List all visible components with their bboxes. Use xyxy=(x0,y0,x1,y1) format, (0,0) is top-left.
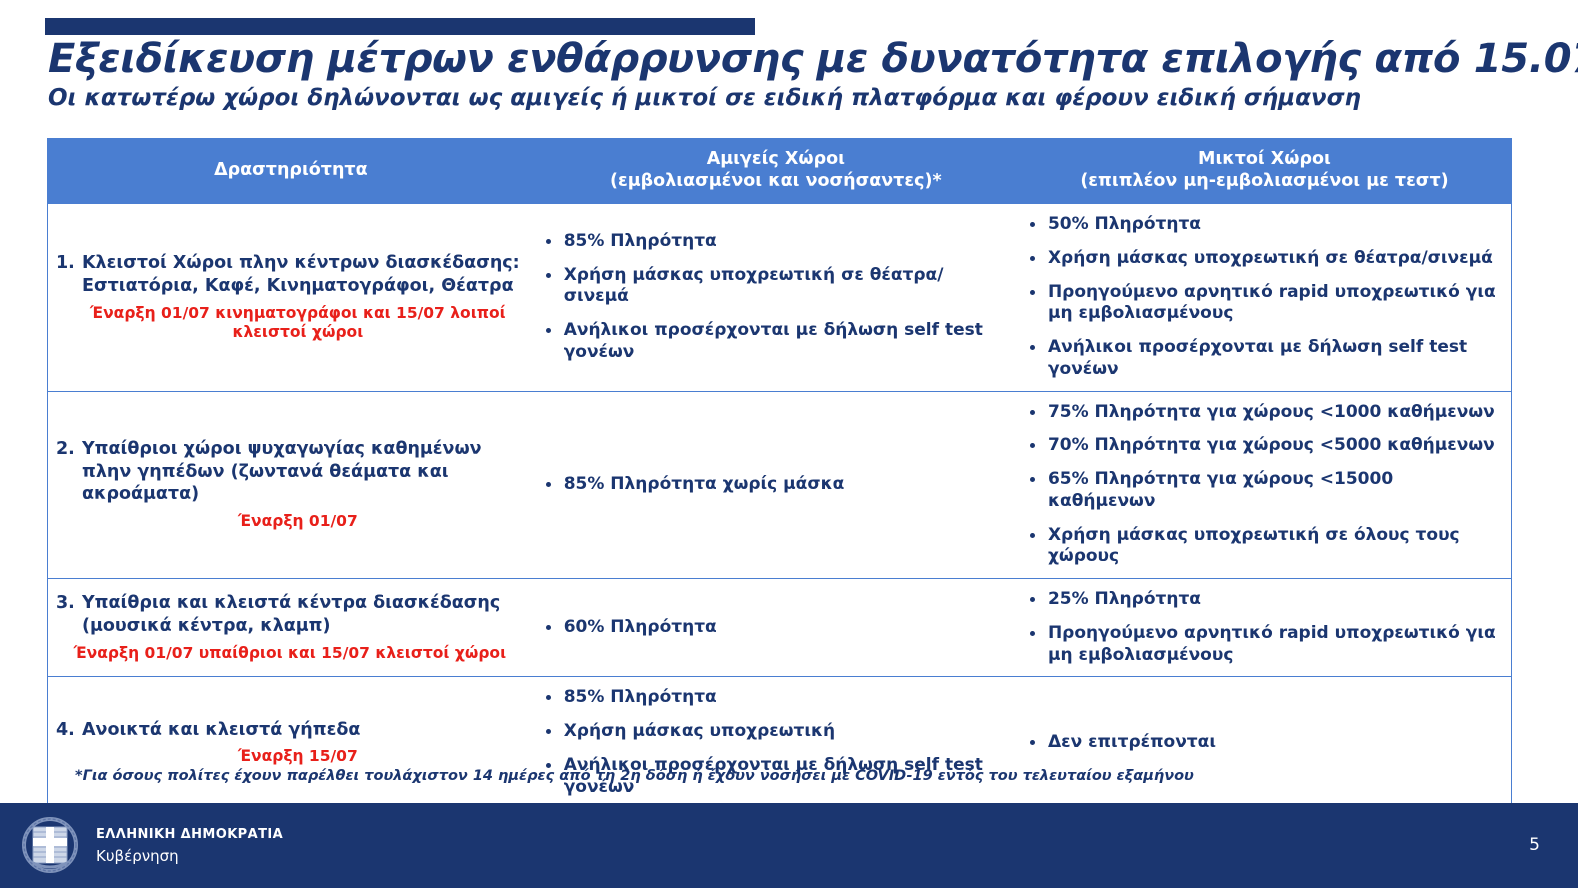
activity-number: 1. xyxy=(56,252,82,275)
mixed-spaces-cell: 50% Πληρότητα Χρήση μάσκας υποχρεωτική σ… xyxy=(1018,204,1511,391)
list-item: Χρήση μάσκας υποχρεωτική σε θέατρα/σινεμ… xyxy=(1026,248,1501,270)
list-item: Δεν επιτρέπονται xyxy=(1026,732,1501,754)
pure-spaces-cell: 85% Πληρότητα χωρίς μάσκα xyxy=(534,392,1018,579)
activity-text: Υπαίθρια και κλειστά κέντρα διασκέδασης … xyxy=(82,592,524,638)
page-subtitle: Οι κατωτέρω χώροι δηλώνονται ως αμιγείς … xyxy=(48,85,1538,111)
activity-cell: 3. Υπαίθρια και κλειστά κέντρα διασκέδασ… xyxy=(48,579,534,676)
mixed-spaces-list: 25% Πληρότητα Προηγούμενο αρνητικό rapid… xyxy=(1026,589,1501,666)
list-item: Χρήση μάσκας υποχρεωτική σε όλους τους χ… xyxy=(1026,525,1501,569)
table-row: 1. Κλειστοί Χώροι πλην κέντρων διασκέδασ… xyxy=(48,203,1511,391)
list-item: Ανήλικοι προσέρχονται με δήλωση self tes… xyxy=(1026,337,1501,381)
activity-text: Υπαίθριοι χώροι ψυχαγωγίας καθημένων πλη… xyxy=(82,438,524,506)
activity-number: 2. xyxy=(56,438,82,461)
column-header-mixed-line2: (επιπλέον μη-εμβολιασμένοι με τεστ) xyxy=(1080,171,1448,193)
org-name: ΕΛΛΗΝΙΚΗ ΔΗΜΟΚΡΑΤΙΑ xyxy=(96,827,283,842)
list-item: Προηγούμενο αρνητικό rapid υποχρεωτικό γ… xyxy=(1026,623,1501,667)
title-accent-bar xyxy=(45,18,755,35)
column-header-pure-spaces: Αμιγείς Χώροι (εμβολιασμένοι και νοσήσαν… xyxy=(534,139,1018,203)
activity-number: 4. xyxy=(56,719,82,742)
list-item: Προηγούμενο αρνητικό rapid υποχρεωτικό γ… xyxy=(1026,282,1501,326)
activity-cell: 1. Κλειστοί Χώροι πλην κέντρων διασκέδασ… xyxy=(48,204,534,391)
activity-text: Κλειστοί Χώροι πλην κέντρων διασκέδασης:… xyxy=(82,252,524,298)
page-title: Εξειδίκευση μέτρων ενθάρρυνσης με δυνατό… xyxy=(48,38,1538,80)
org-subname: Κυβέρνηση xyxy=(96,847,179,865)
activity-start-note: Έναρξη 15/07 xyxy=(56,747,524,766)
mixed-spaces-list: 75% Πληρότητα για χώρους <1000 καθήμενων… xyxy=(1026,402,1501,569)
column-header-mixed-spaces: Μικτοί Χώροι (επιπλέον μη-εμβολιασμένοι … xyxy=(1018,139,1511,203)
list-item: 85% Πληρότητα xyxy=(542,687,1008,709)
pure-spaces-list: 60% Πληρότητα xyxy=(542,617,1008,639)
activity-start-note: Έναρξη 01/07 xyxy=(56,512,524,531)
list-item: 50% Πληρότητα xyxy=(1026,214,1501,236)
title-block: Εξειδίκευση μέτρων ενθάρρυνσης με δυνατό… xyxy=(48,38,1538,112)
pure-spaces-cell: 60% Πληρότητα xyxy=(534,579,1018,676)
list-item: Χρήση μάσκας υποχρεωτική xyxy=(542,721,1008,743)
column-header-mixed-line1: Μικτοί Χώροι xyxy=(1080,149,1448,171)
footnote: *Για όσους πολίτες έχουν παρέλθει τουλάχ… xyxy=(75,768,1194,784)
mixed-spaces-list: Δεν επιτρέπονται xyxy=(1026,732,1501,754)
page-number: 5 xyxy=(1529,835,1540,855)
activity-start-note: Έναρξη 01/07 υπαίθριοι και 15/07 κλειστο… xyxy=(56,644,524,663)
activity-number: 3. xyxy=(56,592,82,615)
greek-coat-of-arms-icon xyxy=(21,816,79,874)
mixed-spaces-cell: Δεν επιτρέπονται xyxy=(1018,677,1511,808)
column-header-pure-line2: (εμβολιασμένοι και νοσήσαντες)* xyxy=(610,171,942,193)
column-header-pure-line1: Αμιγείς Χώροι xyxy=(610,149,942,171)
pure-spaces-list: 85% Πληρότητα χωρίς μάσκα xyxy=(542,474,1008,496)
activity-text: Ανοικτά και κλειστά γήπεδα xyxy=(82,719,360,742)
table-row: 4. Ανοικτά και κλειστά γήπεδα Έναρξη 15/… xyxy=(48,676,1511,808)
list-item: 70% Πληρότητα για χώρους <5000 καθήμενων xyxy=(1026,435,1501,457)
table-header-row: Δραστηριότητα Αμιγείς Χώροι (εμβολιασμέν… xyxy=(48,139,1511,203)
activity-cell: 2. Υπαίθριοι χώροι ψυχαγωγίας καθημένων … xyxy=(48,392,534,579)
pure-spaces-cell: 85% Πληρότητα Χρήση μάσκας υποχρεωτική σ… xyxy=(534,204,1018,391)
column-header-activity: Δραστηριότητα xyxy=(48,139,534,203)
list-item: 85% Πληρότητα xyxy=(542,231,1008,253)
pure-spaces-cell: 85% Πληρότητα Χρήση μάσκας υποχρεωτική Α… xyxy=(534,677,1018,808)
list-item: Ανήλικοι προσέρχονται με δήλωση self tes… xyxy=(542,320,1008,364)
mixed-spaces-cell: 75% Πληρότητα για χώρους <1000 καθήμενων… xyxy=(1018,392,1511,579)
footer-band: ΕΛΛΗΝΙΚΗ ΔΗΜΟΚΡΑΤΙΑ Κυβέρνηση 5 xyxy=(0,803,1578,888)
measures-table: Δραστηριότητα Αμιγείς Χώροι (εμβολιασμέν… xyxy=(47,138,1512,809)
pure-spaces-list: 85% Πληρότητα Χρήση μάσκας υποχρεωτική σ… xyxy=(542,231,1008,364)
activity-start-note: Έναρξη 01/07 κινηματογράφοι και 15/07 λο… xyxy=(56,304,524,343)
list-item: 60% Πληρότητα xyxy=(542,617,1008,639)
column-header-activity-line1: Δραστηριότητα xyxy=(214,160,368,182)
table-row: 3. Υπαίθρια και κλειστά κέντρα διασκέδασ… xyxy=(48,578,1511,676)
mixed-spaces-cell: 25% Πληρότητα Προηγούμενο αρνητικό rapid… xyxy=(1018,579,1511,676)
list-item: 25% Πληρότητα xyxy=(1026,589,1501,611)
list-item: 65% Πληρότητα για χώρους <15000 καθήμενω… xyxy=(1026,469,1501,513)
table-row: 2. Υπαίθριοι χώροι ψυχαγωγίας καθημένων … xyxy=(48,391,1511,579)
activity-cell: 4. Ανοικτά και κλειστά γήπεδα Έναρξη 15/… xyxy=(48,677,534,808)
mixed-spaces-list: 50% Πληρότητα Χρήση μάσκας υποχρεωτική σ… xyxy=(1026,214,1501,381)
list-item: 75% Πληρότητα για χώρους <1000 καθήμενων xyxy=(1026,402,1501,424)
list-item: 85% Πληρότητα χωρίς μάσκα xyxy=(542,474,1008,496)
list-item: Χρήση μάσκας υποχρεωτική σε θέατρα/σινεμ… xyxy=(542,265,1008,309)
slide: Εξειδίκευση μέτρων ενθάρρυνσης με δυνατό… xyxy=(0,0,1578,888)
